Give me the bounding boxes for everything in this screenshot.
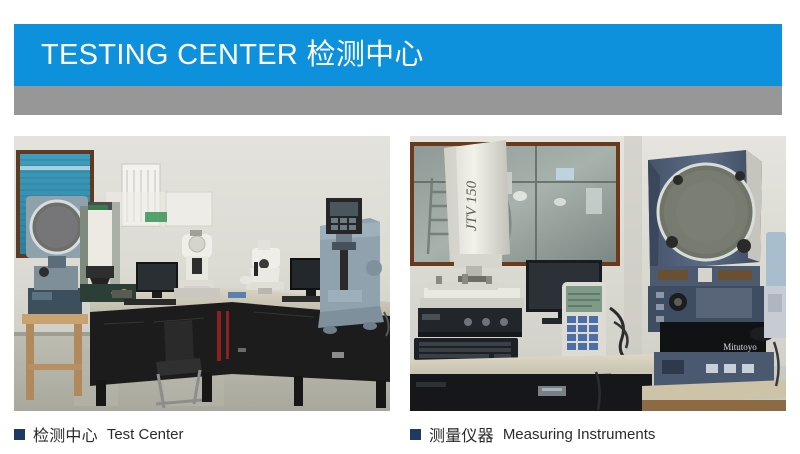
caption-test-center: 检测中心 Test Center: [14, 423, 184, 445]
machine-model-label: JTV 150: [464, 180, 480, 231]
caption-english: Test Center: [107, 426, 184, 443]
caption-english: Measuring Instruments: [503, 426, 656, 443]
photo-measuring-instruments: JTV 150: [410, 136, 786, 411]
brand-label: Mitutoyo: [723, 342, 757, 352]
caption-chinese: 测量仪器: [429, 422, 494, 446]
bullet-square-icon: [14, 429, 25, 440]
photo-test-center: [14, 136, 390, 411]
caption-measuring-instruments: 测量仪器 Measuring Instruments: [410, 423, 655, 445]
measuring-instruments-illustration: JTV 150: [410, 136, 786, 411]
bullet-square-icon: [410, 429, 421, 440]
caption-chinese: 检测中心: [33, 422, 98, 446]
slide-root: TESTING CENTER 检测中心: [0, 0, 800, 454]
photo-row: JTV 150: [0, 136, 800, 411]
page-title: TESTING CENTER 检测中心: [14, 41, 424, 70]
header-banner: TESTING CENTER 检测中心: [14, 24, 782, 86]
test-center-illustration: [14, 136, 390, 411]
header-gray-strip: [14, 86, 782, 115]
